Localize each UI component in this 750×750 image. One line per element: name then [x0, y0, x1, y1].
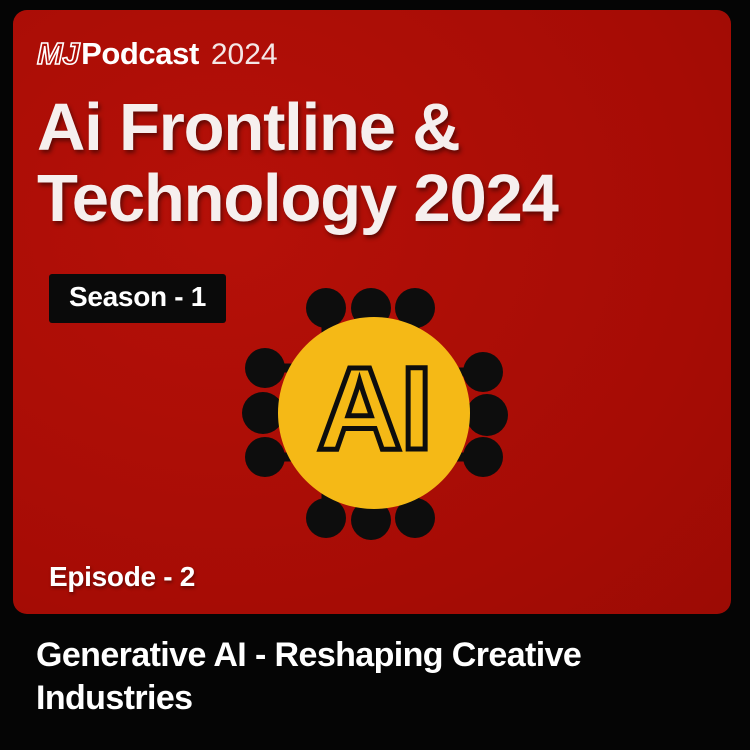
brand-year: 2024: [211, 40, 278, 70]
title-line-2: Technology 2024: [37, 163, 677, 234]
season-badge: Season - 1: [49, 274, 226, 323]
artwork-panel: MJ Podcast 2024 Ai Frontline & Technolog…: [13, 10, 731, 614]
brand-name: Podcast: [81, 38, 199, 69]
brand-lockup: MJ Podcast 2024: [37, 38, 278, 70]
podcast-cover-art: MJ Podcast 2024 Ai Frontline & Technolog…: [0, 0, 750, 750]
page-title: Ai Frontline & Technology 2024: [37, 92, 677, 234]
ai-chip-illustration: AI: [241, 282, 509, 544]
title-line-1: Ai Frontline &: [37, 92, 677, 163]
chip-label-ai: AI: [317, 343, 431, 475]
episode-number-label: Episode - 2: [49, 562, 195, 593]
episode-title-caption: Generative AI - Reshaping Creative Indus…: [36, 634, 726, 720]
brand-monogram: MJ: [37, 38, 79, 69]
